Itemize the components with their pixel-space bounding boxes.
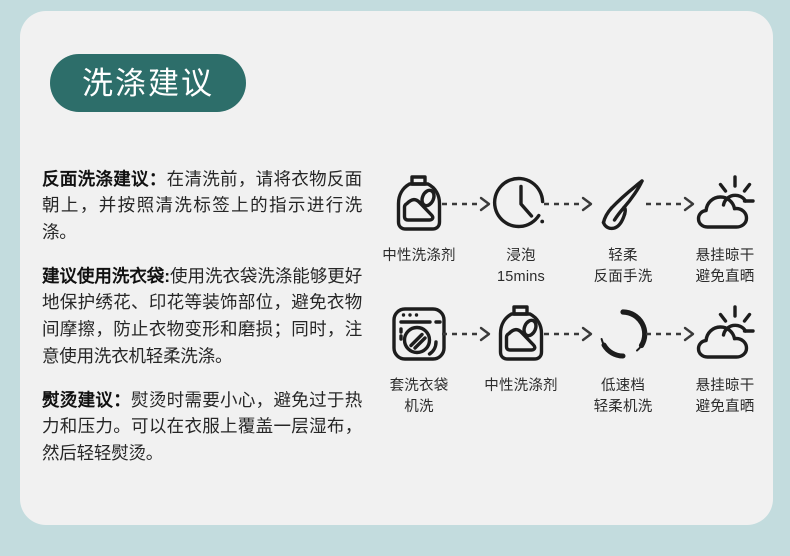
flow-arrow — [670, 301, 674, 367]
step-detergent-bottle: 中性洗涤剂 — [472, 301, 570, 397]
step-detergent-bottle: 中性洗涤剂 — [370, 171, 468, 267]
sun-behind-cloud-icon — [692, 171, 758, 237]
step-hand-wash: 轻柔 反面手洗 — [574, 171, 672, 287]
flow-arrow — [568, 171, 572, 237]
flow-arrow — [466, 301, 470, 367]
step-label: 轻柔 反面手洗 — [594, 246, 653, 287]
flow-arrow — [466, 171, 470, 237]
step-label: 浸泡 15mins — [497, 246, 545, 287]
instruction-paragraph-1: 反面洗涤建议：在清洗前，请将衣物反面朝上，并按照清洗标签上的指示进行洗涤。 — [42, 166, 362, 246]
step-hang-dry: 悬挂晾干 避免直晒 — [676, 171, 774, 287]
instruction-paragraph-3: 熨烫建议：熨烫时需要小心，避免过于热力和压力。可以在衣服上覆盖一层湿布，然后轻轻… — [42, 387, 362, 467]
instruction-lead-1: 反面洗涤建议： — [42, 169, 167, 189]
step-label: 中性洗涤剂 — [484, 376, 558, 397]
flow-arrow — [568, 301, 572, 367]
sun-behind-cloud-icon — [692, 301, 758, 367]
washing-instructions-page: 洗涤建议 反面洗涤建议：在清洗前，请将衣物反面朝上，并按照清洗标签上的指示进行洗… — [0, 0, 790, 556]
flow-arrow — [670, 171, 674, 237]
step-soak-clock: 浸泡 15mins — [472, 171, 570, 287]
step-label: 中性洗涤剂 — [382, 246, 456, 267]
instruction-paragraph-2: 建议使用洗衣袋:使用洗衣袋洗涤能够更好地保护绣花、印花等装饰部位，避免衣物间摩擦… — [42, 263, 362, 369]
instruction-lead-2: 建议使用洗衣袋: — [42, 266, 170, 286]
step-hang-dry: 悬挂晾干 避免直晒 — [676, 301, 774, 417]
instructions-text-column: 反面洗涤建议：在清洗前，请将衣物反面朝上，并按照清洗标签上的指示进行洗涤。 建议… — [42, 148, 362, 466]
machine-wash-flow-row: 套洗衣袋 机洗 — [370, 301, 790, 417]
hand-wash-flow-row: 中性洗涤剂 浸泡 15 — [370, 171, 790, 287]
care-icon-grid: 中性洗涤剂 浸泡 15 — [370, 171, 790, 417]
step-label: 悬挂晾干 避免直晒 — [696, 376, 755, 417]
page-title: 洗涤建议 — [82, 68, 214, 99]
step-label: 低速档 轻柔机洗 — [594, 376, 653, 417]
step-label: 悬挂晾干 避免直晒 — [696, 246, 755, 287]
instruction-lead-3: 熨烫建议： — [42, 390, 131, 410]
step-machine-wash-bag: 套洗衣袋 机洗 — [370, 301, 468, 417]
page-title-badge: 洗涤建议 — [50, 54, 246, 112]
content-panel: 洗涤建议 反面洗涤建议：在清洗前，请将衣物反面朝上，并按照清洗标签上的指示进行洗… — [20, 11, 773, 525]
step-low-speed-spin: 低速档 轻柔机洗 — [574, 301, 672, 417]
step-label: 套洗衣袋 机洗 — [390, 376, 449, 417]
